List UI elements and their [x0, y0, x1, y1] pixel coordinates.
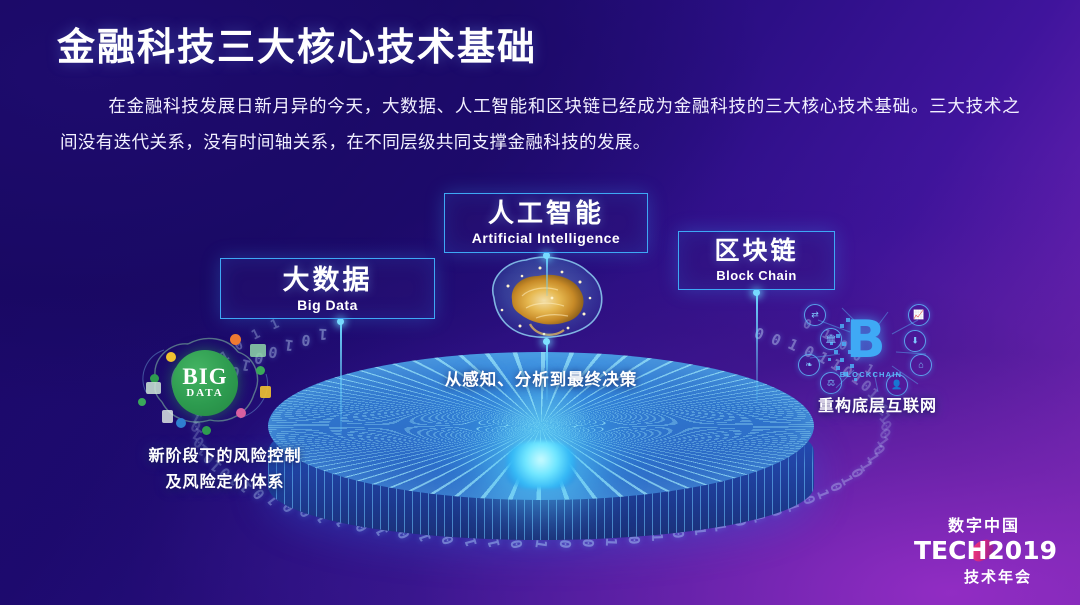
blockchain-icon-chart: 📈 — [908, 304, 930, 326]
intro-paragraph: 在金融科技发展日新月异的今天，大数据、人工智能和区块链已经成为金融科技的三大核心… — [60, 88, 1020, 160]
pillar-caption-bigdata-line2: 及风险定价体系 — [100, 470, 350, 496]
pillar-label-blockchain-en: Block Chain — [679, 266, 834, 285]
node-icon-chart — [250, 344, 266, 357]
bigdata-badge-subtitle: DATA — [186, 387, 224, 400]
pillar-caption-ai: 从感知、分析到最终决策 — [406, 366, 676, 390]
pillar-label-blockchain-cn: 区块链 — [679, 236, 834, 266]
binary-digit: 0 — [875, 425, 895, 443]
pillar-label-ai[interactable]: 人工智能 Artificial Intelligence — [444, 193, 648, 253]
watermark-logo: TECH2019 — [914, 536, 1054, 565]
bigdata-badge-title: BIG — [182, 366, 227, 387]
pillar-label-ai-cn: 人工智能 — [445, 198, 647, 228]
pillar-label-blockchain[interactable]: 区块链 Block Chain — [678, 231, 835, 290]
binary-digit: 1 — [813, 487, 833, 502]
pillar-caption-bigdata-line1: 新阶段下的风险控制 — [100, 444, 350, 470]
node-dot-green-4 — [138, 398, 146, 406]
binary-digit: 0 — [869, 441, 889, 459]
blockchain-artwork: B BLOCKCHAIN ⇄ 🏛 ❧ ⚖ 📈 ⬇ ⌂ 👤 — [792, 302, 944, 398]
binary-digit: 0 — [826, 480, 846, 495]
watermark-title: 数字中国 — [924, 512, 1044, 536]
page-title: 金融科技三大核心技术基础 — [57, 16, 537, 71]
binary-digit: 1 — [837, 472, 857, 488]
binary-digit: 0 — [769, 330, 785, 350]
blockchain-icon-bank: 🏛 — [820, 328, 842, 350]
pillar-label-bigdata-en: Big Data — [221, 295, 434, 315]
blockchain-icon-scale: ⚖ — [820, 372, 842, 394]
pillar-label-bigdata-cn: 大数据 — [221, 265, 434, 295]
node-dot-pink — [236, 408, 246, 418]
node-dot-green-2 — [256, 366, 265, 375]
connector-stem-bigdata — [340, 322, 342, 434]
blockchain-icon-shield: ⬇ — [904, 330, 926, 352]
binary-digit: 0 — [300, 330, 311, 349]
bigdata-badge: BIG DATA — [172, 350, 238, 416]
node-icon-lock — [260, 386, 271, 398]
node-dot-yellow — [166, 352, 176, 362]
watermark-subtitle: 技术年会 — [938, 566, 1058, 587]
slide-canvas: 金融科技三大核心技术基础 在金融科技发展日新月异的今天，大数据、人工智能和区块链… — [0, 0, 1080, 605]
binary-digit: 1 — [318, 325, 328, 344]
binary-digit: 1 — [856, 457, 876, 474]
binary-digit: 0 — [751, 324, 766, 344]
disc-core-glow — [506, 441, 576, 489]
blockchain-icon-exchange: ⇄ — [804, 304, 826, 326]
pillar-caption-bigdata: 新阶段下的风险控制 及风险定价体系 — [100, 444, 350, 496]
pillar-caption-blockchain: 重构底层互联网 — [790, 392, 965, 416]
node-dot-orange — [230, 334, 241, 345]
node-icon-doc — [162, 410, 173, 423]
blockchain-icon-home: ⌂ — [910, 354, 932, 376]
blockchain-b-glyph: B — [846, 314, 886, 366]
binary-digit: 0 — [876, 417, 896, 436]
connector-stem-blockchain — [756, 293, 758, 403]
pillar-label-ai-en: Artificial Intelligence — [445, 228, 647, 248]
node-icon-image — [146, 382, 161, 394]
binary-digit: 1 — [873, 433, 893, 451]
blockchain-icon-leaf: ❧ — [798, 354, 820, 376]
binary-digit: 0 — [847, 465, 867, 481]
bigdata-artwork: BIG DATA — [132, 322, 284, 444]
node-dot-blue — [176, 418, 186, 428]
node-dot-green-3 — [202, 426, 211, 435]
paragraph-text: 在金融科技发展日新月异的今天，大数据、人工智能和区块链已经成为金融科技的三大核心… — [60, 96, 1020, 152]
binary-digit: 1 — [863, 449, 883, 466]
connector-stem-ai-top — [546, 256, 548, 296]
pillar-label-bigdata[interactable]: 大数据 Big Data — [220, 258, 435, 319]
